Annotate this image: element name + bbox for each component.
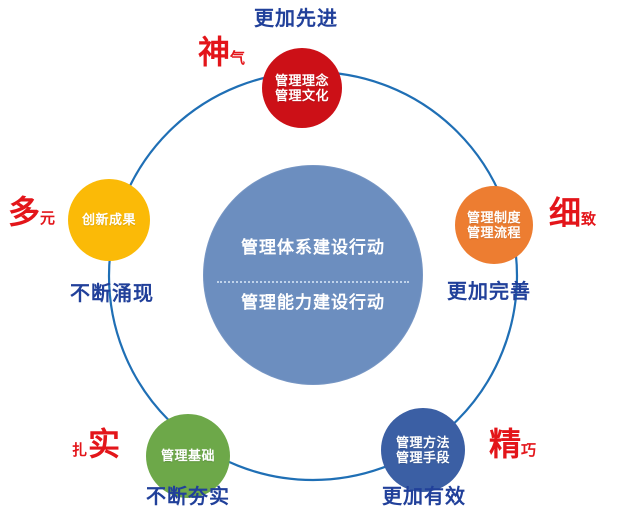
node-left-line1: 创新成果: [82, 212, 136, 227]
keyword-bottom-left-big: 实: [88, 428, 120, 460]
keyword-bottom-left: 扎 实: [72, 428, 120, 460]
node-top-management-philosophy[interactable]: 管理理念 管理文化: [262, 48, 342, 128]
node-bottom-left-line1: 管理基础: [161, 448, 215, 463]
caption-bottom-left: 不断夯实: [146, 480, 230, 509]
keyword-right-small: 致: [581, 212, 596, 229]
hub-circle[interactable]: 管理体系建设行动 管理能力建设行动: [203, 165, 423, 385]
keyword-left: 多 元: [8, 196, 55, 228]
caption-left: 不断涌现: [70, 277, 154, 306]
hub-line-top: 管理体系建设行动: [241, 239, 385, 256]
hub-content: 管理体系建设行动 管理能力建设行动: [203, 165, 423, 385]
caption-bottom-right: 更加有效: [382, 480, 466, 509]
diagram-canvas: 管理体系建设行动 管理能力建设行动 管理理念 管理文化 更加先进 神 气 管理制…: [0, 0, 625, 528]
keyword-bottom-right-small: 巧: [521, 443, 536, 460]
keyword-bottom-right: 精 巧: [489, 428, 536, 460]
keyword-left-small: 元: [40, 211, 55, 228]
hub-line-bottom: 管理能力建设行动: [241, 294, 385, 311]
keyword-right: 细 致: [549, 197, 596, 229]
keyword-top-big: 神: [198, 36, 230, 68]
keyword-right-big: 细: [549, 197, 581, 229]
caption-right: 更加完善: [447, 275, 531, 304]
keyword-left-big: 多: [8, 196, 40, 228]
keyword-top: 神 气: [198, 36, 245, 68]
keyword-bottom-left-small: 扎: [72, 443, 88, 460]
node-bottom-right-line2: 管理手段: [396, 450, 450, 465]
node-right-line2: 管理流程: [467, 225, 521, 240]
keyword-bottom-right-big: 精: [489, 428, 521, 460]
node-top-line2: 管理文化: [275, 88, 329, 103]
caption-top: 更加先进: [254, 2, 338, 31]
node-right-management-system[interactable]: 管理制度 管理流程: [455, 186, 533, 264]
node-top-line1: 管理理念: [275, 73, 329, 88]
node-left-innovation-results[interactable]: 创新成果: [68, 179, 150, 261]
keyword-top-small: 气: [230, 51, 245, 68]
node-right-line1: 管理制度: [467, 210, 521, 225]
node-bottom-right-line1: 管理方法: [396, 435, 450, 450]
hub-dashed-divider: [217, 281, 409, 283]
